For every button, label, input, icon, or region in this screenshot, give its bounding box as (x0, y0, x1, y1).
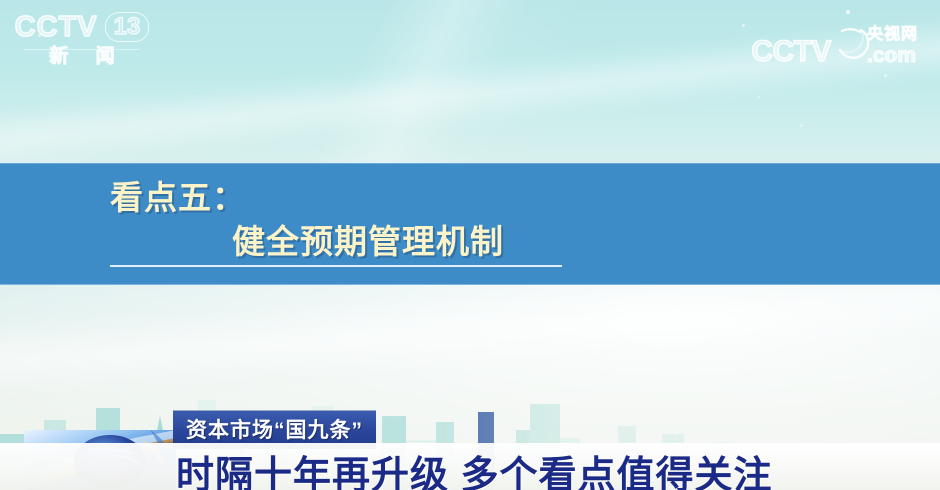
channel-bug-subtitle: 新 闻 (18, 47, 146, 66)
cctv-com-watermark: CCTV 央视网 .com (751, 14, 918, 66)
watermark-brand: CCTV (751, 38, 831, 67)
highlight-banner-line1: 看点五： (110, 171, 246, 219)
highlight-banner-underline (110, 265, 562, 267)
channel-bug-row: CCTV 13 (18, 12, 146, 42)
sparkle-dot (742, 24, 745, 27)
watermark-cn-name: 央视网 (867, 27, 918, 43)
watermark-domain: .com (867, 45, 916, 66)
channel-bug-cctv13: CCTV 13 新 闻 (18, 12, 146, 78)
channel-bug-name: CCTV (15, 13, 98, 42)
sparkle-dot (800, 124, 803, 127)
watermark-ring-icon (828, 20, 874, 66)
channel-bug-divider (24, 49, 140, 50)
watermark-text-group: 央视网 .com (867, 27, 918, 66)
channel-bug-number: 13 (105, 12, 150, 42)
tv-broadcast-frame: CCTV 13 新 闻 CCTV 央视网 .com 看点五： 健全预期管理机制 (0, 0, 940, 490)
sparkle-dot (758, 96, 760, 98)
lower-third-headline: 时隔十年再升级 多个看点值得关注 (176, 444, 773, 490)
highlight-banner: 看点五： 健全预期管理机制 (0, 163, 940, 285)
sparkle-dot (884, 74, 887, 77)
highlight-banner-line2: 健全预期管理机制 (232, 215, 504, 263)
